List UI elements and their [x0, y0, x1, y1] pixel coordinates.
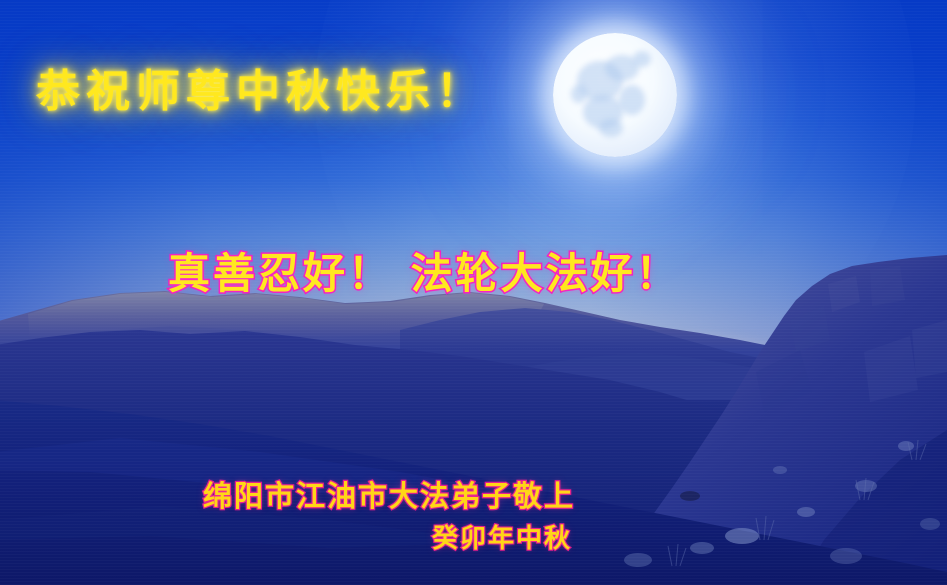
date-text: 癸卯年中秋 — [432, 518, 572, 555]
greeting-text: 恭祝师尊中秋快乐！ — [36, 55, 486, 119]
greeting-card: 恭祝师尊中秋快乐！ 真善忍好！ 法轮大法好！ 绵阳市江油市大法弟子敬上 癸卯年中… — [0, 0, 947, 585]
slogan-text: 真善忍好！ 法轮大法好！ — [168, 240, 681, 301]
sender-text: 绵阳市江油市大法弟子敬上 — [203, 473, 575, 515]
